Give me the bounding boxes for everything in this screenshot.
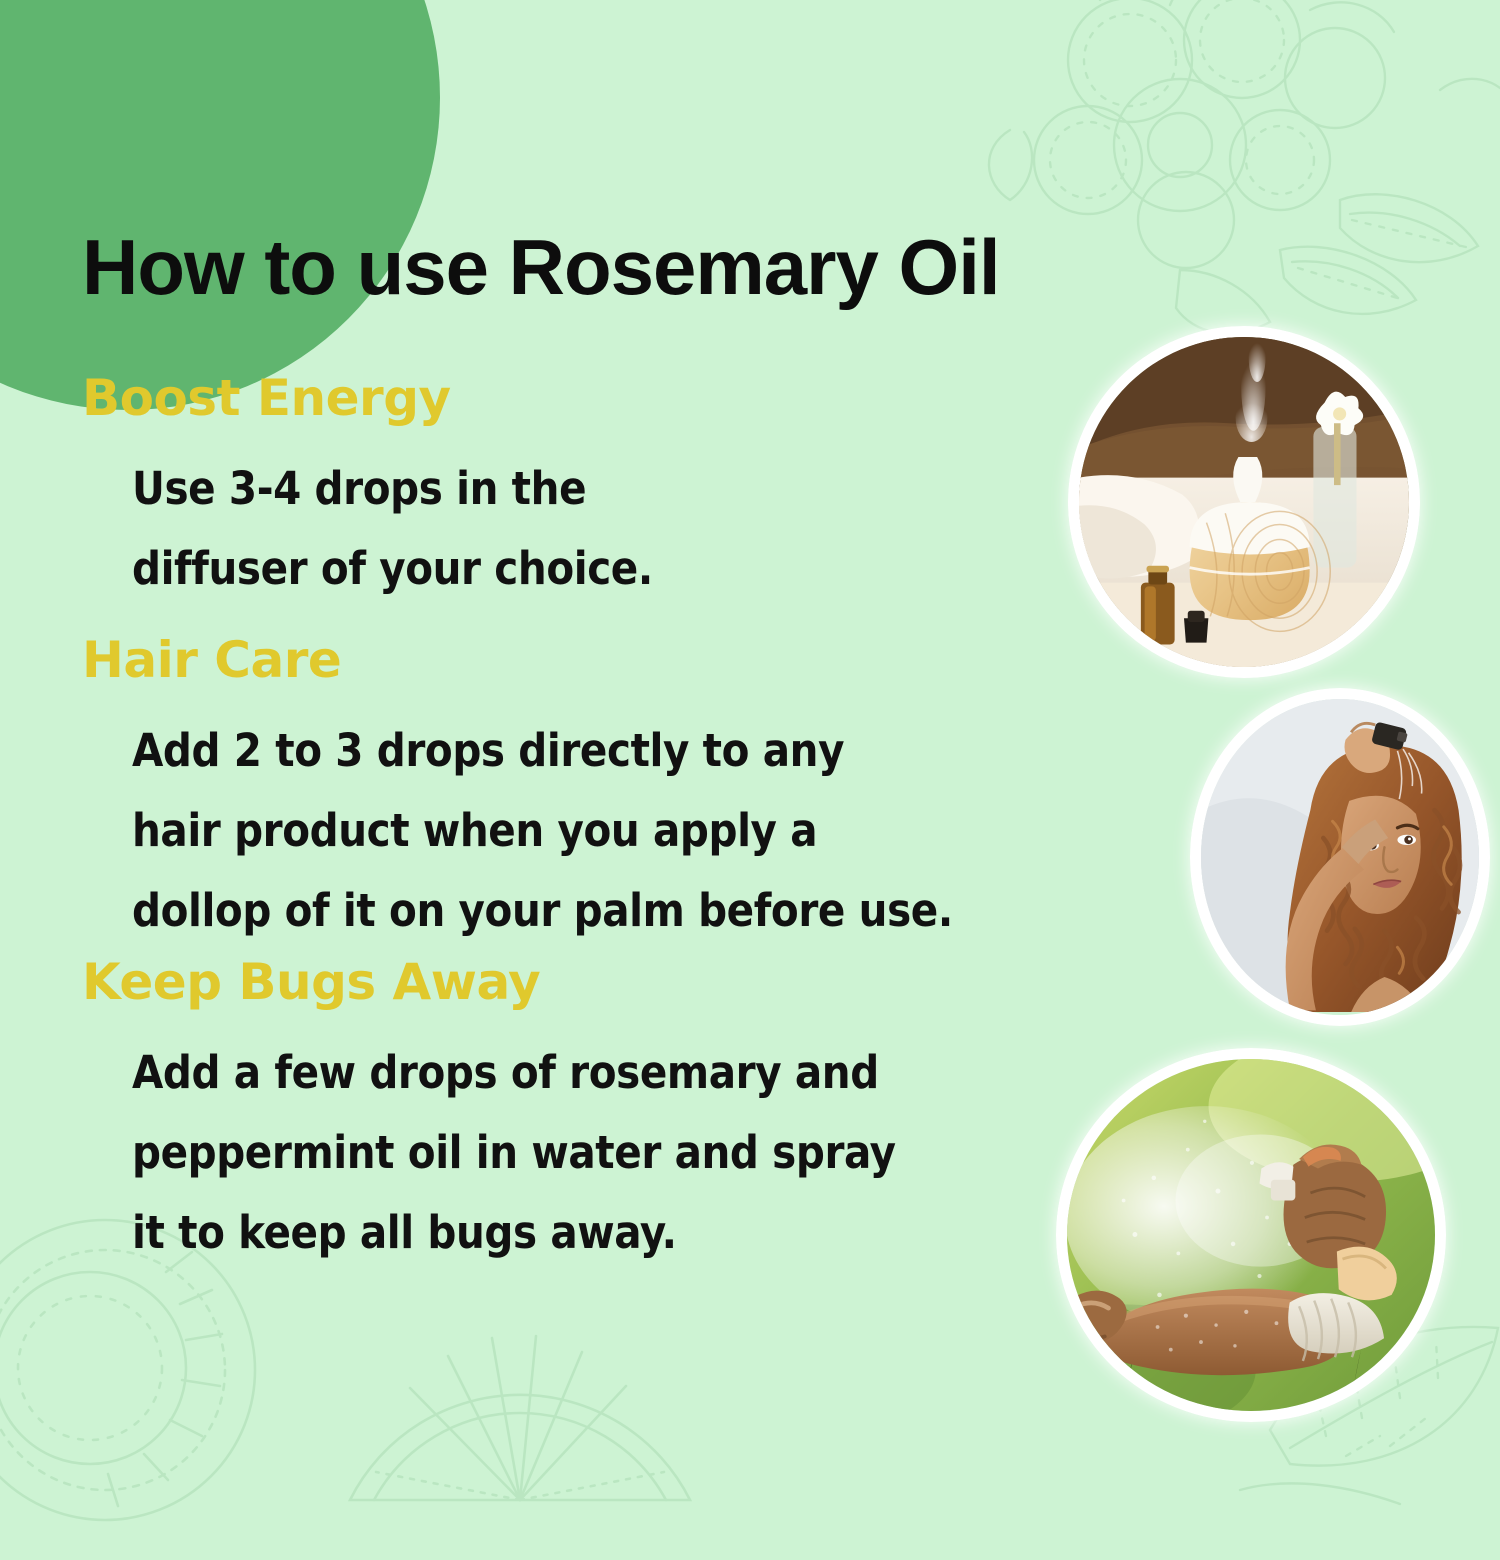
bug-spray-photo (1056, 1048, 1446, 1422)
section-heading-boost-energy: Boost Energy (82, 372, 653, 425)
section-heading-keep-bugs-away: Keep Bugs Away (82, 956, 896, 1009)
section-body-keep-bugs-away: Add a few drops of rosemary and peppermi… (132, 1033, 896, 1273)
section-hair-care: Hair Care Add 2 to 3 drops directly to a… (82, 634, 953, 951)
page-title: How to use Rosemary Oil (82, 222, 1000, 313)
section-boost-energy: Boost Energy Use 3-4 drops in the diffus… (82, 372, 653, 609)
section-keep-bugs-away: Keep Bugs Away Add a few drops of rosema… (82, 956, 896, 1273)
section-body-boost-energy: Use 3-4 drops in the diffuser of your ch… (132, 449, 653, 609)
hair-care-photo (1190, 688, 1490, 1026)
section-body-hair-care: Add 2 to 3 drops directly to any hair pr… (132, 711, 953, 951)
diffuser-photo (1068, 326, 1420, 678)
section-heading-hair-care: Hair Care (82, 634, 953, 687)
text-content-column: How to use Rosemary Oil Boost Energy Use… (0, 0, 1060, 1500)
